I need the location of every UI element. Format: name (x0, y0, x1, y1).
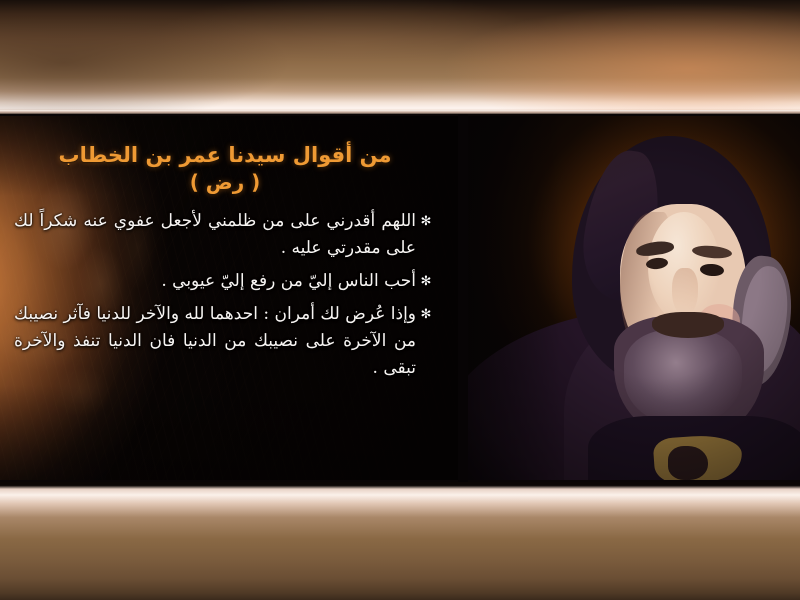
quote-panel-content: من أقوال سيدنا عمر بن الخطاب ( رض ) ✻ ال… (0, 116, 458, 480)
portrait-panel (468, 116, 800, 480)
asterisk-bullet-icon: ✻ (416, 268, 436, 295)
list-item: ✻ وإذا عُرض لك أمران : احدهما لله والآخر… (14, 301, 436, 382)
band-top-color-tint (0, 0, 800, 114)
portrait-vignette-overlay (468, 116, 800, 480)
quote-text: أحب الناس إليّ من رفع إليّ عيوبي . (14, 268, 416, 295)
quote-text: وإذا عُرض لك أمران : احدهما لله والآخر ل… (14, 301, 416, 382)
list-item: ✻ اللهم أقدرني على من ظلمني لأجعل عفوي ع… (14, 208, 436, 262)
list-item: ✻ أحب الناس إليّ من رفع إليّ عيوبي . (14, 268, 436, 295)
quote-list: ✻ اللهم أقدرني على من ظلمني لأجعل عفوي ع… (14, 208, 436, 382)
panel-divider-gap (458, 114, 468, 482)
quote-text: اللهم أقدرني على من ظلمني لأجعل عفوي عنه… (14, 208, 416, 262)
decorative-band-bottom (0, 482, 800, 600)
slide-root: من أقوال سيدنا عمر بن الخطاب ( رض ) ✻ ال… (0, 0, 800, 600)
decorative-band-top (0, 0, 800, 114)
title-block: من أقوال سيدنا عمر بن الخطاب ( رض ) (14, 142, 436, 196)
asterisk-bullet-icon: ✻ (416, 301, 436, 328)
page-subtitle: ( رض ) (14, 168, 436, 196)
page-title: من أقوال سيدنا عمر بن الخطاب (14, 142, 436, 168)
asterisk-bullet-icon: ✻ (416, 208, 436, 235)
quote-panel: من أقوال سيدنا عمر بن الخطاب ( رض ) ✻ ال… (0, 116, 458, 480)
